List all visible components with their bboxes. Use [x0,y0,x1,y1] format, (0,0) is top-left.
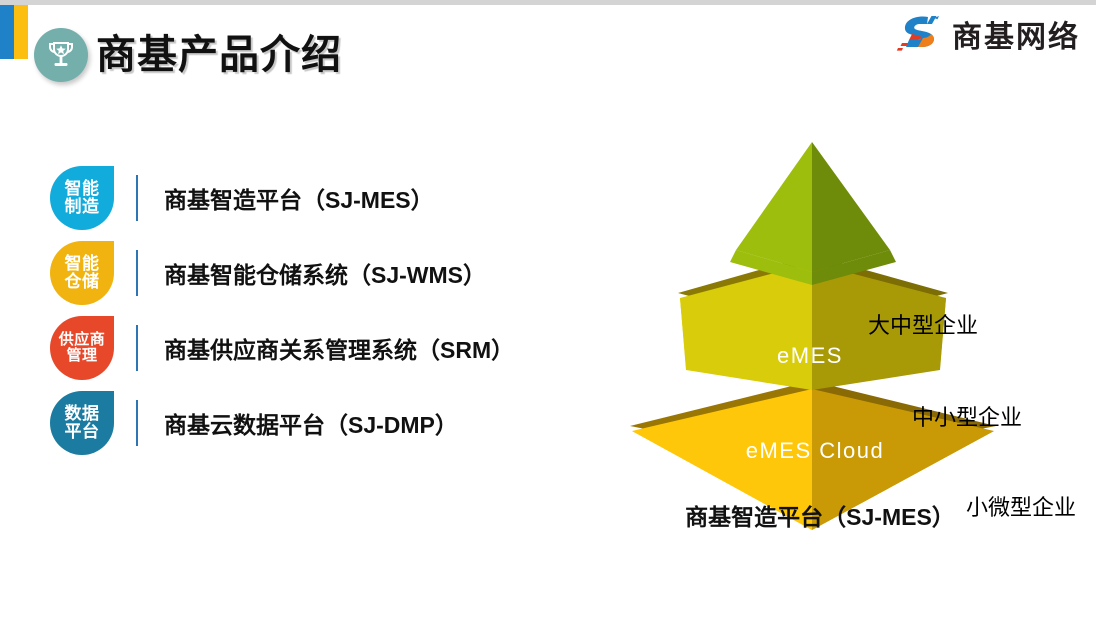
pyramid-tier-label-vmes-cloud: vMES Cloud [660,540,970,566]
product-badge-data-platform: 数据 平台 [50,391,114,455]
badge-line-2: 平台 [65,423,100,441]
product-row[interactable]: 数据 平台 商基云数据平台（SJ-DMP） [50,385,590,460]
pyramid-tier-top-right [812,142,890,272]
badge-line-1: 供应商 [59,332,106,348]
product-badge-smart-warehouse: 智能 仓储 [50,241,114,305]
trophy-icon [34,28,88,82]
product-label: 商基智能仓储系统（SJ-WMS） [164,256,486,290]
badge-line-1: 智能 [65,255,100,273]
pyramid-tier-top-left [736,142,812,272]
pyramid-tier-label-emes-cloud: eMES Cloud [670,438,960,464]
product-badge-supplier-management: 供应商 管理 [50,316,114,380]
brand-name: 商基网络 [952,12,1080,56]
page-title: 商基产品介绍 [96,22,342,80]
badge-line-2: 制造 [65,198,100,216]
pyramid-side-label-large-enterprise: 大中型企业 [868,308,978,340]
pyramid-caption: 商基智造平台（SJ-MES） [600,498,1040,532]
product-row[interactable]: 智能 制造 商基智造平台（SJ-MES） [50,160,590,235]
product-label: 商基智造平台（SJ-MES） [164,181,434,215]
swoosh-s-logo-icon [896,14,942,54]
badge-line-1: 数据 [65,405,100,423]
product-row[interactable]: 供应商 管理 商基供应商关系管理系统（SRM） [50,310,590,385]
pyramid-graphic [600,130,1096,530]
slide-header: 商基产品介绍 商基网络 [0,0,1096,96]
product-label: 商基供应商关系管理系统（SRM） [164,331,514,365]
product-row[interactable]: 智能 仓储 商基智能仓储系统（SJ-WMS） [50,235,590,310]
product-list: 智能 制造 商基智造平台（SJ-MES） 智能 仓储 商基智能仓储系统（SJ-W… [50,160,590,460]
pyramid-side-label-medium-enterprise: 中小型企业 [912,400,1022,432]
brand-logo: 商基网络 [896,12,1080,56]
product-label: 商基云数据平台（SJ-DMP） [164,406,458,440]
row-divider [136,250,138,296]
badge-line-1: 智能 [65,180,100,198]
badge-line-2: 仓储 [65,273,100,291]
product-badge-smart-manufacturing: 智能 制造 [50,166,114,230]
row-divider [136,325,138,371]
pyramid-tier-label-emes: eMES [730,343,890,369]
row-divider [136,400,138,446]
badge-line-2: 管理 [66,348,97,364]
row-divider [136,175,138,221]
pyramid-diagram: eMES eMES Cloud vMES Cloud 大中型企业 中小型企业 小… [600,130,1096,530]
slide-canvas: 商基产品介绍 商基网络 智能 制造 商基智造平台（SJ-MES） [0,0,1096,618]
